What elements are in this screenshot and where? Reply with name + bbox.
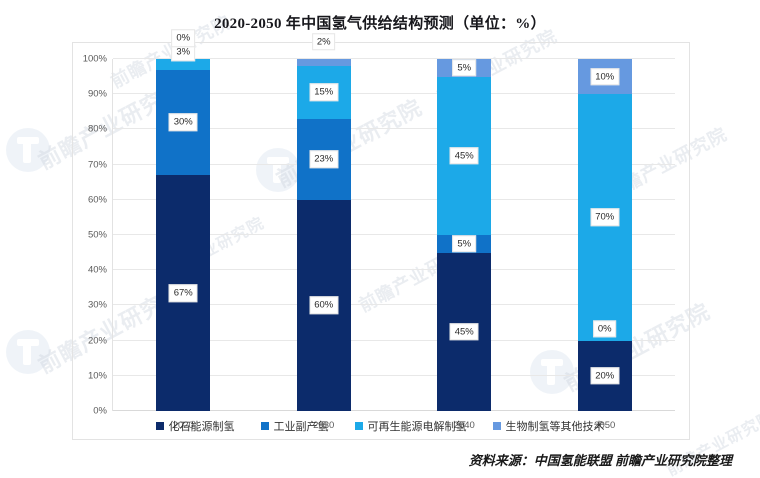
- page-title: 2020-2050 年中国氢气供给结构预测（单位：%）: [0, 12, 760, 33]
- chart-legend: 化石能源制氢工业副产氢可再生能源电解制氢生物制氢等其他技术: [0, 418, 760, 434]
- legend-label: 化石能源制氢: [169, 418, 235, 434]
- legend-label: 生物制氢等其他技术: [506, 418, 605, 434]
- bar-value-label: 23%: [309, 151, 338, 169]
- bar-value-label: 15%: [309, 84, 338, 102]
- legend-label: 可再生能源电解制氢: [368, 418, 467, 434]
- y-axis-tick: 0%: [93, 406, 107, 417]
- bar-group: 67%30%3%0%202060%23%15%2%203045%5%45%5%2…: [113, 59, 675, 411]
- stacked-bar[interactable]: 20%0%70%10%: [578, 59, 632, 411]
- bar-value-label: 2%: [312, 33, 336, 51]
- bar-segment[interactable]: 60%: [297, 200, 351, 411]
- bar-segment[interactable]: 20%: [578, 341, 632, 411]
- bar-value-label: 10%: [590, 68, 619, 86]
- bar-segment[interactable]: 30%: [156, 70, 210, 176]
- bar-value-label: 67%: [169, 284, 198, 302]
- chart-frame: 0%10%20%30%40%50%60%70%80%90%100% 67%30%…: [72, 42, 690, 440]
- legend-item-2[interactable]: 可再生能源电解制氢: [355, 418, 467, 434]
- plot-area: 0%10%20%30%40%50%60%70%80%90%100% 67%30%…: [113, 59, 675, 411]
- y-axis-tick: 40%: [88, 265, 107, 276]
- bar-value-label: 45%: [450, 323, 479, 341]
- watermark-logo: [6, 128, 50, 172]
- bar-value-label: 45%: [450, 147, 479, 165]
- bar-segment[interactable]: 5%: [437, 59, 491, 77]
- bar-slot-2050: 20%0%70%10%2050: [535, 59, 676, 411]
- bar-segment[interactable]: 23%: [297, 119, 351, 200]
- bar-segment[interactable]: 45%: [437, 253, 491, 411]
- legend-item-1[interactable]: 工业副产氢: [261, 418, 329, 434]
- bar-segment[interactable]: 70%: [578, 94, 632, 340]
- bar-value-label: 30%: [169, 114, 198, 132]
- legend-label: 工业副产氢: [274, 418, 329, 434]
- bar-segment[interactable]: 2%: [297, 59, 351, 66]
- bar-segment[interactable]: 10%: [578, 59, 632, 94]
- bar-segment[interactable]: 15%: [297, 66, 351, 119]
- bar-segment[interactable]: 3%: [156, 59, 210, 70]
- legend-swatch-icon: [156, 422, 164, 430]
- legend-swatch-icon: [261, 422, 269, 430]
- source-note: 资料来源：中国氢能联盟 前瞻产业研究院整理: [469, 450, 732, 469]
- stacked-bar[interactable]: 60%23%15%2%: [297, 59, 351, 411]
- stacked-bar[interactable]: 45%5%45%5%: [437, 59, 491, 411]
- y-axis-tick: 100%: [83, 54, 107, 65]
- legend-item-0[interactable]: 化石能源制氢: [156, 418, 235, 434]
- y-axis-tick: 60%: [88, 194, 107, 205]
- y-axis-tick: 30%: [88, 300, 107, 311]
- bar-slot-2030: 60%23%15%2%2030: [254, 59, 395, 411]
- y-axis-tick: 20%: [88, 335, 107, 346]
- bar-value-label: 60%: [309, 297, 338, 315]
- bar-value-label: 0%: [593, 320, 617, 338]
- bar-slot-2040: 45%5%45%5%2040: [394, 59, 535, 411]
- bar-segment[interactable]: 45%: [437, 77, 491, 235]
- y-axis-tick: 10%: [88, 370, 107, 381]
- bar-value-label: 5%: [452, 235, 476, 253]
- y-axis-tick: 80%: [88, 124, 107, 135]
- bar-value-label: 20%: [590, 367, 619, 385]
- watermark-logo: [6, 330, 50, 374]
- bar-value-label: 5%: [452, 59, 476, 77]
- bar-segment[interactable]: 67%: [156, 175, 210, 411]
- bar-value-label: 70%: [590, 209, 619, 227]
- legend-swatch-icon: [355, 422, 363, 430]
- legend-swatch-icon: [493, 422, 501, 430]
- y-axis-tick: 70%: [88, 159, 107, 170]
- y-axis-tick: 50%: [88, 230, 107, 241]
- stacked-bar[interactable]: 67%30%3%0%: [156, 59, 210, 411]
- chart-page: 前瞻产业研究院 前瞻产业研究院 前瞻产业研究院 前瞻产业研究院 前瞻产业研究院 …: [0, 0, 760, 478]
- y-axis-tick: 90%: [88, 89, 107, 100]
- bar-slot-2020: 67%30%3%0%2020: [113, 59, 254, 411]
- bar-segment[interactable]: 5%: [437, 235, 491, 253]
- legend-item-3[interactable]: 生物制氢等其他技术: [493, 418, 605, 434]
